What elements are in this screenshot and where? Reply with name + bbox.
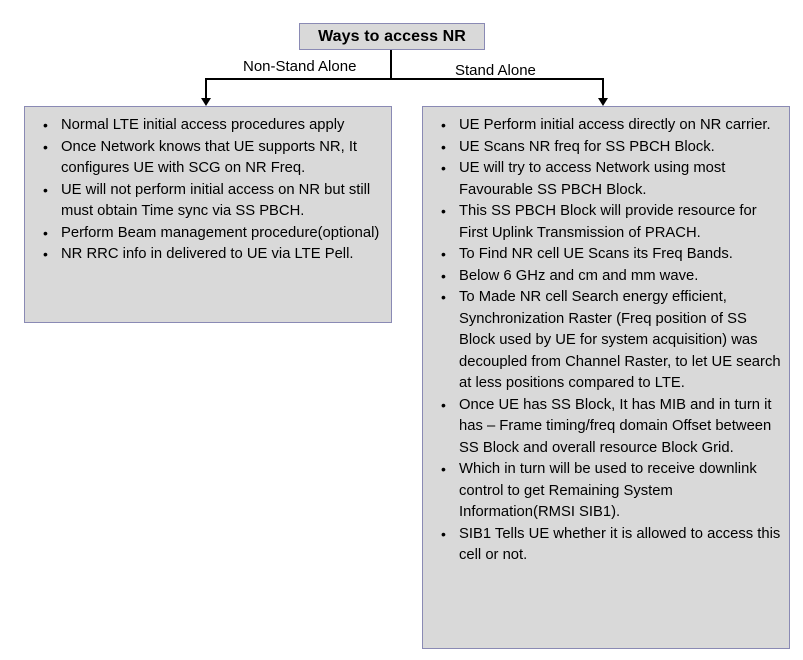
connector-drop-stand-alone (602, 78, 604, 100)
list-item: Perform Beam management procedure(option… (29, 223, 385, 245)
branch-label-stand-alone: Stand Alone (455, 62, 536, 79)
root-node-ways-to-access-nr: Ways to access NR (299, 23, 485, 50)
list-item: SIB1 Tells UE whether it is allowed to a… (427, 524, 783, 567)
bullet-list-non-stand-alone: Normal LTE initial access procedures app… (29, 115, 385, 266)
connector-drop-non-stand-alone (205, 78, 207, 100)
list-item: Normal LTE initial access procedures app… (29, 115, 385, 137)
list-item: UE will not perform initial access on NR… (29, 180, 385, 223)
connector-branch-horizontal (205, 78, 604, 80)
branch-label-non-stand-alone: Non-Stand Alone (243, 58, 356, 75)
list-item: Below 6 GHz and cm and mm wave. (427, 266, 783, 288)
list-item: To Find NR cell UE Scans its Freq Bands. (427, 244, 783, 266)
connector-stem-vertical (390, 50, 392, 79)
root-node-label: Ways to access NR (318, 28, 466, 46)
list-item: UE Scans NR freq for SS PBCH Block. (427, 137, 783, 159)
list-item: To Made NR cell Search energy efficient,… (427, 287, 783, 395)
list-item: NR RRC info in delivered to UE via LTE P… (29, 244, 385, 266)
list-item: Once Network knows that UE supports NR, … (29, 137, 385, 180)
arrowhead-non-stand-alone-icon (201, 98, 211, 106)
list-item: Once UE has SS Block, It has MIB and in … (427, 395, 783, 460)
content-box-non-stand-alone: Normal LTE initial access procedures app… (24, 106, 392, 323)
list-item: UE Perform initial access directly on NR… (427, 115, 783, 137)
content-box-stand-alone: UE Perform initial access directly on NR… (422, 106, 790, 649)
bullet-list-stand-alone: UE Perform initial access directly on NR… (427, 115, 783, 567)
list-item: Which in turn will be used to receive do… (427, 459, 783, 524)
list-item: This SS PBCH Block will provide resource… (427, 201, 783, 244)
arrowhead-stand-alone-icon (598, 98, 608, 106)
list-item: UE will try to access Network using most… (427, 158, 783, 201)
